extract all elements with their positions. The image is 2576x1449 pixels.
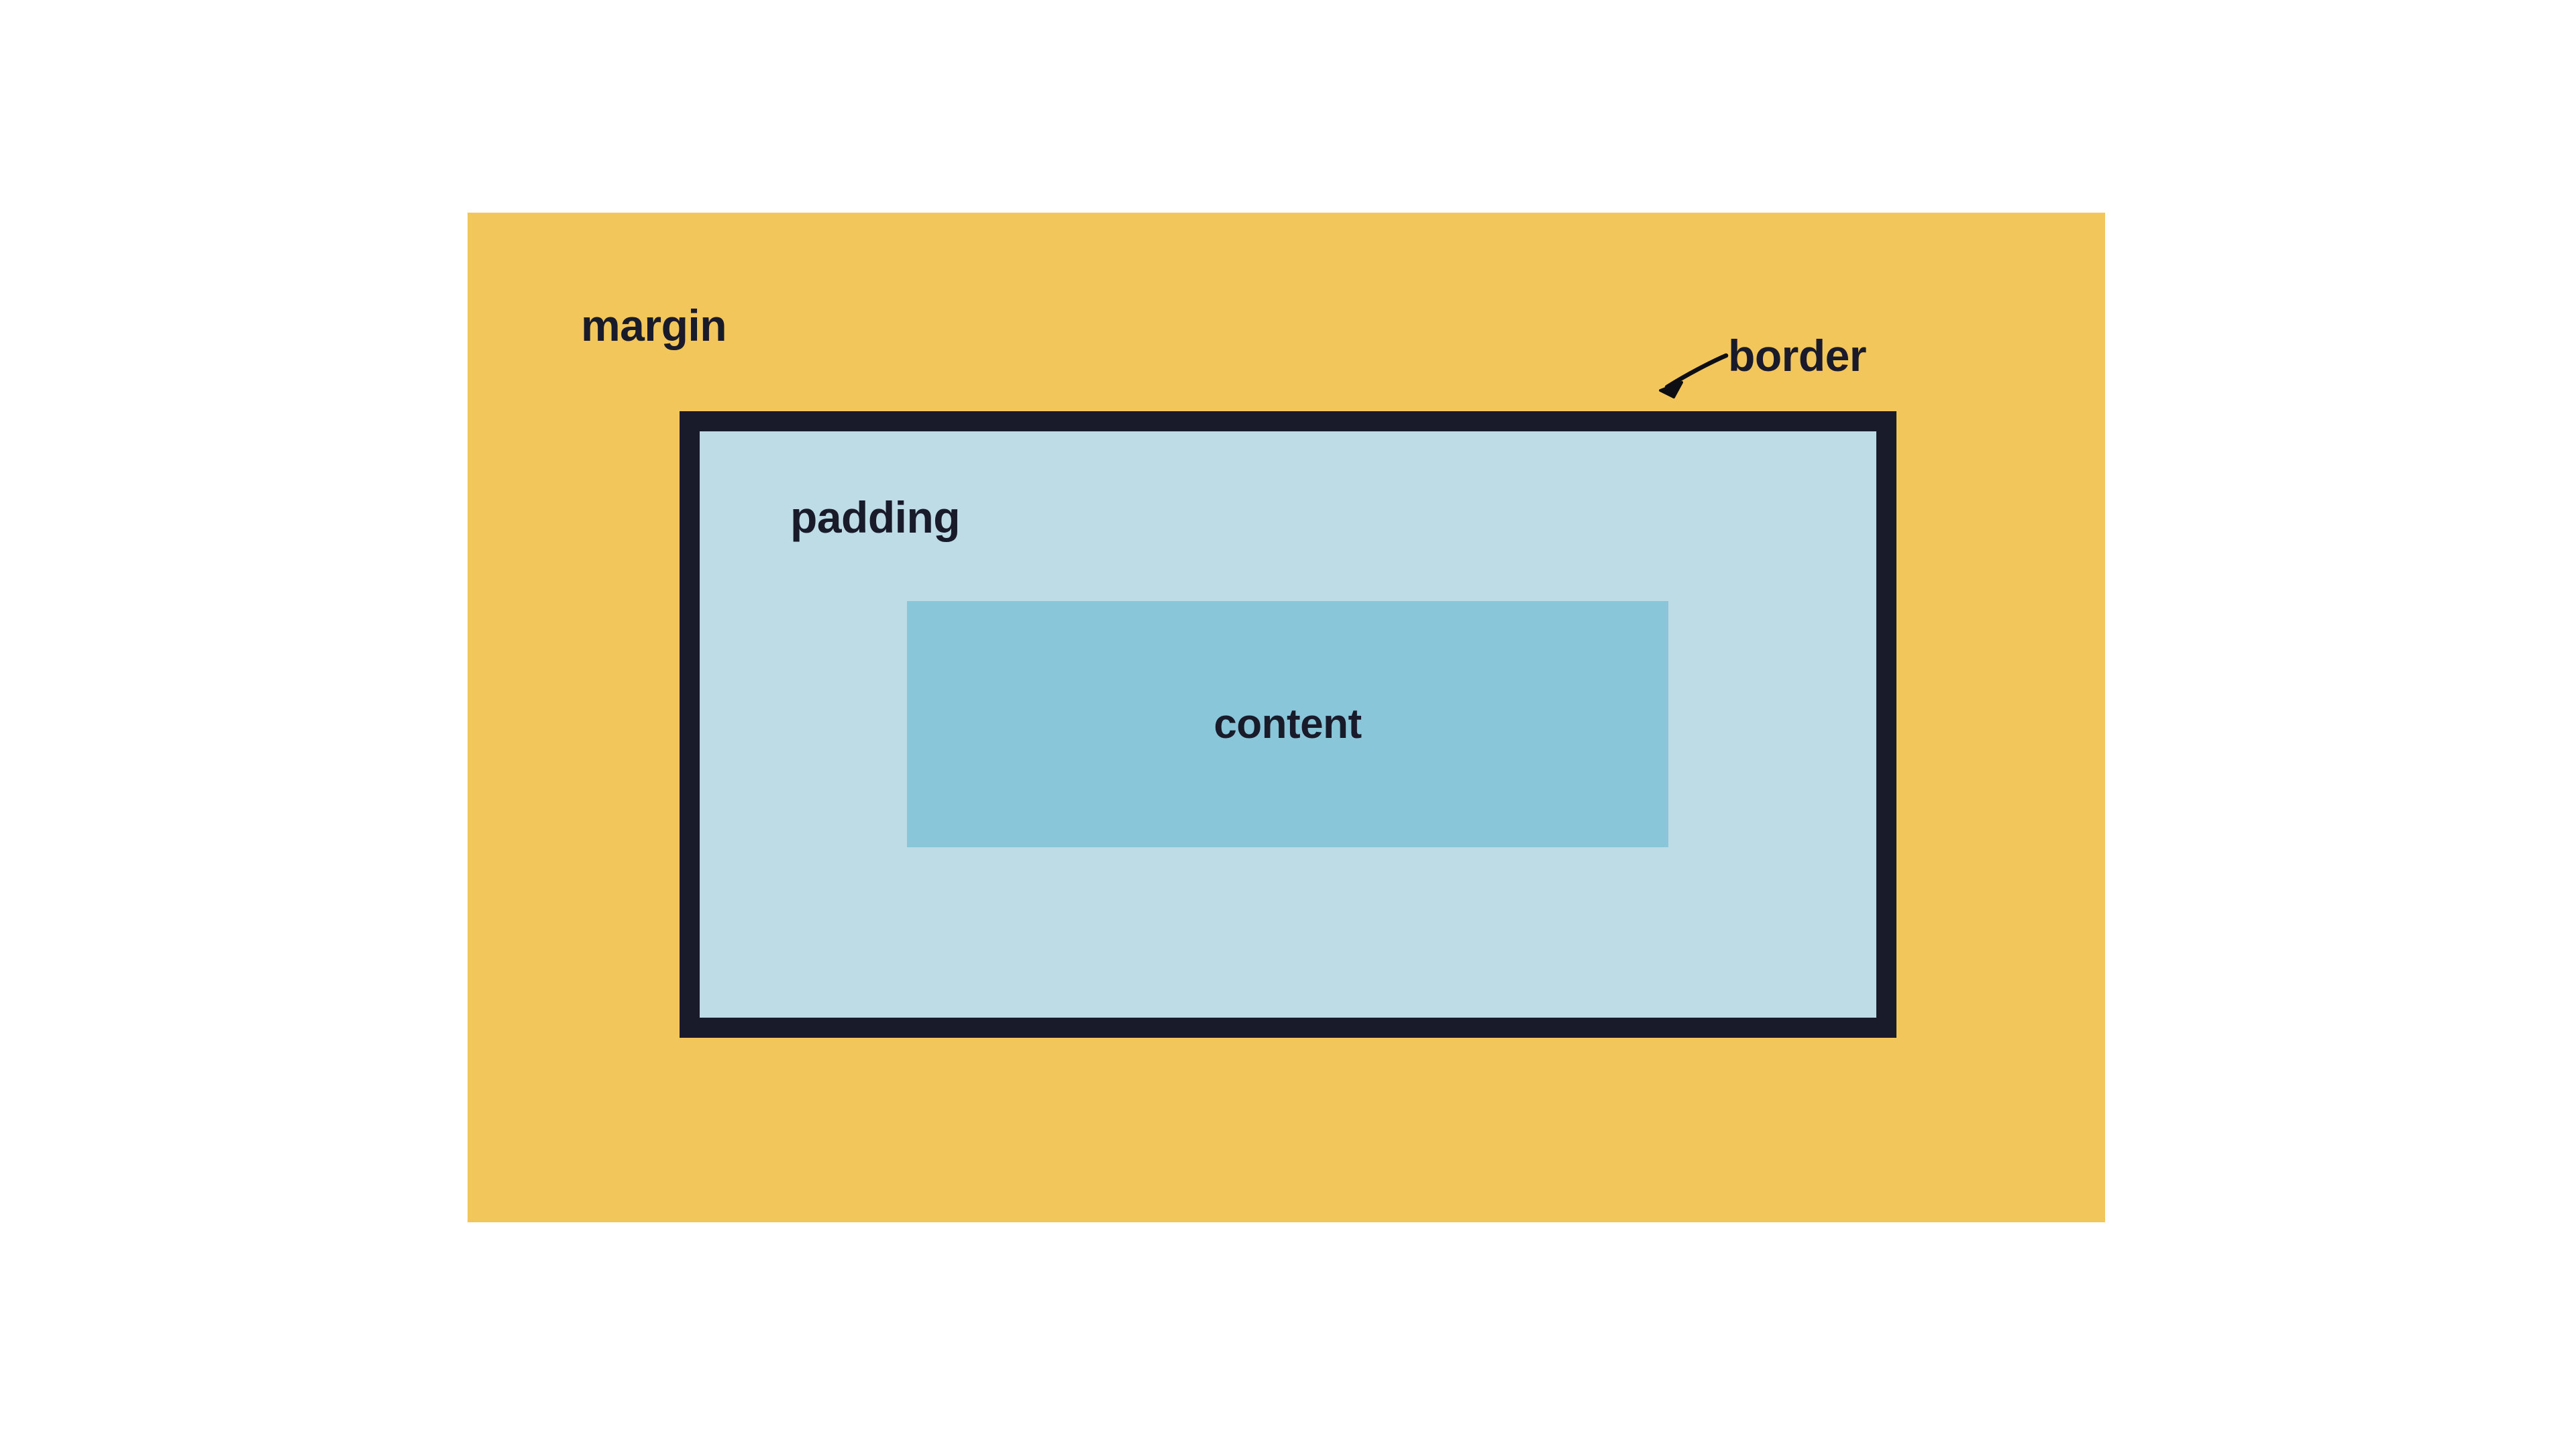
content-box: content [907,601,1668,847]
box-model-diagram: content margin padding border [0,0,2576,1449]
margin-label: margin [581,303,727,347]
content-label: content [1214,704,1361,745]
padding-label: padding [790,495,960,539]
border-label: border [1728,333,1866,378]
